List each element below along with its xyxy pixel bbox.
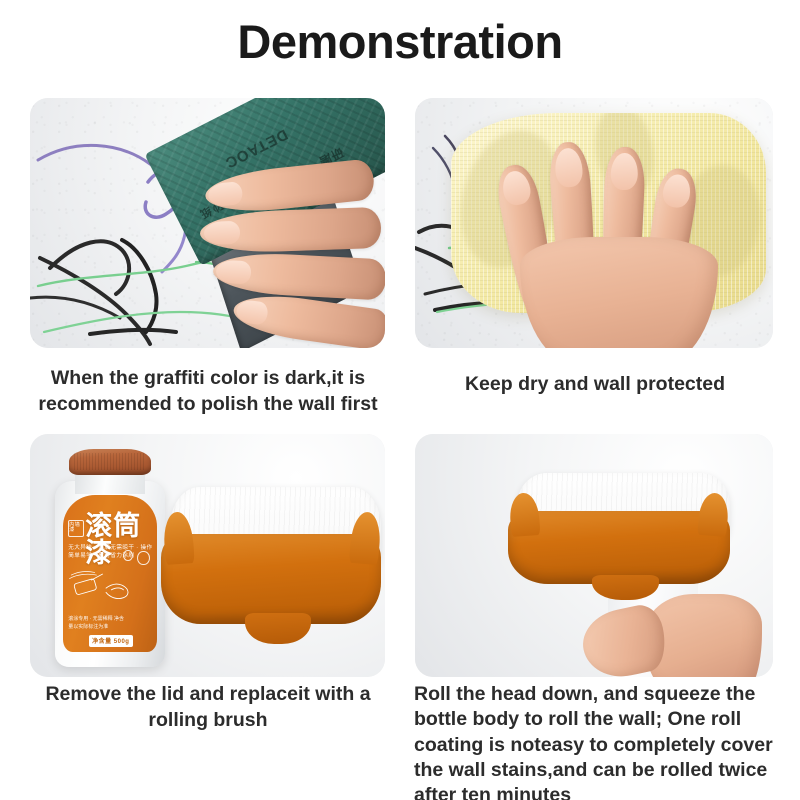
label-footer: 滚涂专用 · 无需稀释 净含量以实际标注为准 <box>68 616 127 631</box>
label-illustration <box>66 554 153 617</box>
demo-image-roll-the-wall <box>415 434 773 677</box>
caption-roll-the-wall: Roll the head down, and squeeze the bott… <box>414 682 786 800</box>
roller-brush-head <box>161 487 381 643</box>
finger <box>200 207 382 254</box>
caption-keep-dry: Keep dry and wall protected <box>402 372 788 398</box>
fingernail <box>204 221 241 245</box>
palm <box>520 237 718 348</box>
fingernail <box>216 259 252 284</box>
page-title: Demonstration <box>0 14 800 69</box>
demo-image-keep-dry <box>415 98 773 348</box>
demo-image-polish-wall: DETAOC 砂纸 研磨 <box>30 98 385 348</box>
hand <box>501 138 737 348</box>
label-weight: 净含量 500g <box>89 635 133 648</box>
paint-bottle: 内墙漆 滚筒漆 无大异味 · 涂后无需晾干 · 操作简单易学 · 省时省力涂刷 <box>55 449 165 668</box>
demonstration-page: Demonstration <box>0 0 800 800</box>
roller-frame <box>508 511 730 584</box>
hand <box>583 585 762 677</box>
finger <box>212 250 385 300</box>
fingernail <box>661 172 692 209</box>
bottle-cap <box>69 449 150 475</box>
fingernail <box>500 168 533 206</box>
caption-replace-lid: Remove the lid and replaceit with a roll… <box>22 682 394 734</box>
bottle-label: 内墙漆 滚筒漆 无大异味 · 涂后无需晾干 · 操作简单易学 · 省时省力涂刷 <box>63 495 158 652</box>
caption-polish-wall: When the graffiti color is dark,it is re… <box>18 366 398 418</box>
roller-stem <box>245 613 311 644</box>
label-tag: 内墙漆 <box>68 520 84 537</box>
fingernail <box>236 298 270 325</box>
roller-brush-head <box>508 473 730 599</box>
fingernail <box>554 148 583 188</box>
demo-image-replace-lid: 内墙漆 滚筒漆 无大异味 · 涂后无需晾干 · 操作简单易学 · 省时省力涂刷 <box>30 434 385 677</box>
hand <box>200 163 385 348</box>
fingernail <box>207 181 243 207</box>
fingernail <box>610 152 638 190</box>
roller-frame <box>161 534 381 624</box>
